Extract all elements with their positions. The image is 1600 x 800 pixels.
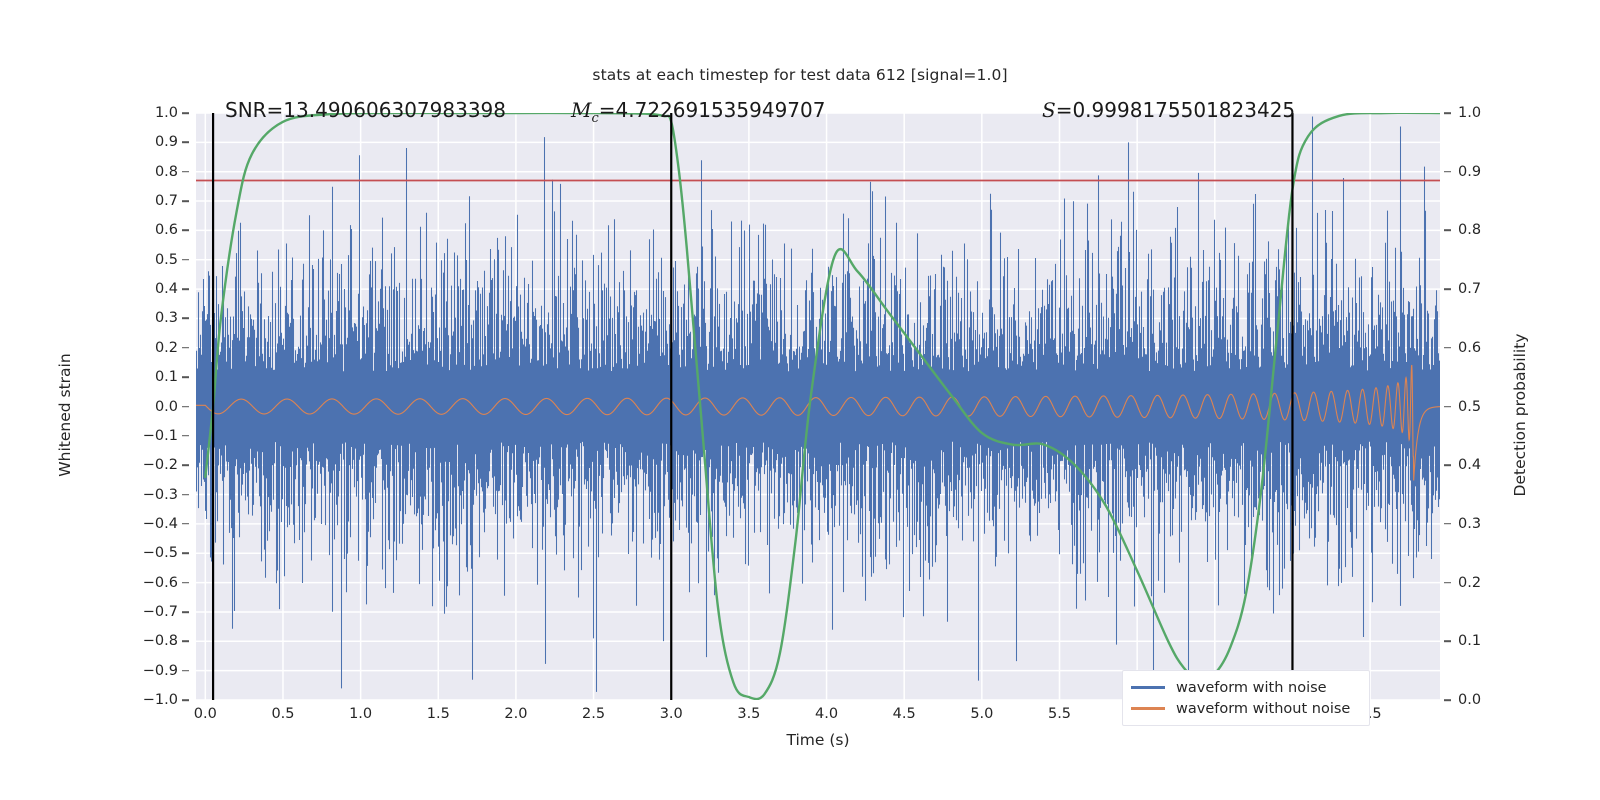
tick-mark bbox=[182, 200, 189, 202]
tick-mark bbox=[1444, 582, 1451, 584]
y-tick-left: −0.7 bbox=[143, 604, 178, 620]
y-tick-right: 0.0 bbox=[1458, 692, 1481, 708]
tick-mark bbox=[182, 523, 189, 525]
y-tick-left: −0.1 bbox=[143, 428, 178, 444]
tick-mark bbox=[182, 699, 189, 701]
y-tick-left: −0.8 bbox=[143, 633, 178, 649]
signal-score-annotation: S=0.9998175501823425 bbox=[1042, 98, 1295, 122]
y-tick-right: 0.4 bbox=[1458, 457, 1481, 473]
y-tick-right: 1.0 bbox=[1458, 105, 1481, 121]
y-tick-right: 0.6 bbox=[1458, 340, 1481, 356]
tick-mark bbox=[1444, 699, 1451, 701]
y-tick-left: −0.4 bbox=[143, 516, 178, 532]
legend-item[interactable]: waveform without noise bbox=[1131, 698, 1359, 719]
noise-waveform-series bbox=[197, 117, 1440, 699]
tick-mark bbox=[182, 142, 189, 144]
tick-mark bbox=[1444, 171, 1451, 173]
y-tick-left: −0.3 bbox=[143, 487, 178, 503]
tick-mark bbox=[182, 582, 189, 584]
y-tick-right: 0.8 bbox=[1458, 222, 1481, 238]
y-tick-right: 0.3 bbox=[1458, 516, 1481, 532]
plot-axes[interactable] bbox=[196, 113, 1440, 700]
tick-mark bbox=[182, 464, 189, 466]
tick-mark bbox=[1444, 112, 1451, 114]
tick-mark bbox=[182, 112, 189, 114]
tick-mark bbox=[182, 230, 189, 232]
x-tick: 5.0 bbox=[970, 706, 993, 722]
tick-mark bbox=[182, 259, 189, 261]
y-tick-left: 0.8 bbox=[155, 164, 178, 180]
tick-mark bbox=[1444, 523, 1451, 525]
y-axis-left-ticks: 1.00.90.80.70.60.50.40.30.20.10.0−0.1−0.… bbox=[120, 113, 178, 700]
tick-mark bbox=[1444, 347, 1451, 349]
tick-mark bbox=[182, 670, 189, 672]
x-tick: 3.5 bbox=[737, 706, 760, 722]
y-tick-left: −1.0 bbox=[143, 692, 178, 708]
y-tick-right: 0.5 bbox=[1458, 399, 1481, 415]
tick-mark bbox=[182, 641, 189, 643]
y-tick-left: 0.2 bbox=[155, 340, 178, 356]
y-tick-left: 0.3 bbox=[155, 310, 178, 326]
tick-mark bbox=[1444, 464, 1451, 466]
tick-mark bbox=[1444, 641, 1451, 643]
tick-mark bbox=[182, 318, 189, 320]
y-tick-left: 0.7 bbox=[155, 193, 178, 209]
y-axis-right-ticks: 1.00.90.80.70.60.50.40.30.20.10.0 bbox=[1458, 113, 1518, 700]
tick-mark bbox=[182, 288, 189, 290]
x-tick: 4.5 bbox=[893, 706, 916, 722]
chirp-mass-annotation: Mc=4.722691535949707 bbox=[571, 98, 825, 126]
y-tick-right: 0.2 bbox=[1458, 575, 1481, 591]
legend-label: waveform without noise bbox=[1176, 701, 1350, 717]
snr-annotation: SNR=13.490606307983398 bbox=[225, 98, 506, 122]
y-tick-left: 0.1 bbox=[155, 369, 178, 385]
legend-label: waveform with noise bbox=[1176, 680, 1327, 696]
y-axis-left-label: Whitened strain bbox=[56, 165, 74, 665]
y-tick-right: 0.9 bbox=[1458, 164, 1481, 180]
y-tick-left: −0.6 bbox=[143, 575, 178, 591]
x-tick: 0.0 bbox=[194, 706, 217, 722]
x-tick: 5.5 bbox=[1048, 706, 1071, 722]
y-axis-right-label: Detection probability bbox=[1511, 165, 1529, 665]
x-tick: 2.5 bbox=[582, 706, 605, 722]
x-tick: 1.0 bbox=[349, 706, 372, 722]
x-axis-label: Time (s) bbox=[196, 731, 1440, 749]
tick-mark bbox=[182, 435, 189, 437]
y-tick-left: 0.9 bbox=[155, 134, 178, 150]
y-tick-right: 0.7 bbox=[1458, 281, 1481, 297]
y-tick-right: 0.1 bbox=[1458, 633, 1481, 649]
y-tick-left: −0.9 bbox=[143, 663, 178, 679]
legend-swatch-noise bbox=[1131, 686, 1165, 689]
x-tick: 0.5 bbox=[271, 706, 294, 722]
x-tick: 1.5 bbox=[427, 706, 450, 722]
y-tick-left: 0.6 bbox=[155, 222, 178, 238]
data-layer bbox=[196, 113, 1440, 700]
x-tick: 4.0 bbox=[815, 706, 838, 722]
x-tick: 2.0 bbox=[504, 706, 527, 722]
tick-mark bbox=[1444, 406, 1451, 408]
tick-mark bbox=[182, 552, 189, 554]
tick-mark bbox=[182, 611, 189, 613]
tick-mark bbox=[182, 376, 189, 378]
legend-item[interactable]: waveform with noise bbox=[1131, 677, 1359, 698]
tick-mark bbox=[182, 171, 189, 173]
legend[interactable]: waveform with noise waveform without noi… bbox=[1122, 670, 1370, 726]
tick-mark bbox=[1444, 288, 1451, 290]
y-tick-left: −0.2 bbox=[143, 457, 178, 473]
y-tick-left: −0.5 bbox=[143, 545, 178, 561]
legend-swatch-clean bbox=[1131, 707, 1165, 710]
y-tick-left: 0.0 bbox=[155, 399, 178, 415]
tick-mark bbox=[182, 406, 189, 408]
x-tick: 3.0 bbox=[660, 706, 683, 722]
y-tick-left: 0.5 bbox=[155, 252, 178, 268]
y-tick-left: 0.4 bbox=[155, 281, 178, 297]
y-tick-left: 1.0 bbox=[155, 105, 178, 121]
tick-mark bbox=[1444, 230, 1451, 232]
page-title: stats at each timestep for test data 612… bbox=[0, 66, 1600, 84]
tick-mark bbox=[182, 494, 189, 496]
tick-mark bbox=[182, 347, 189, 349]
figure-canvas: stats at each timestep for test data 612… bbox=[0, 0, 1600, 800]
